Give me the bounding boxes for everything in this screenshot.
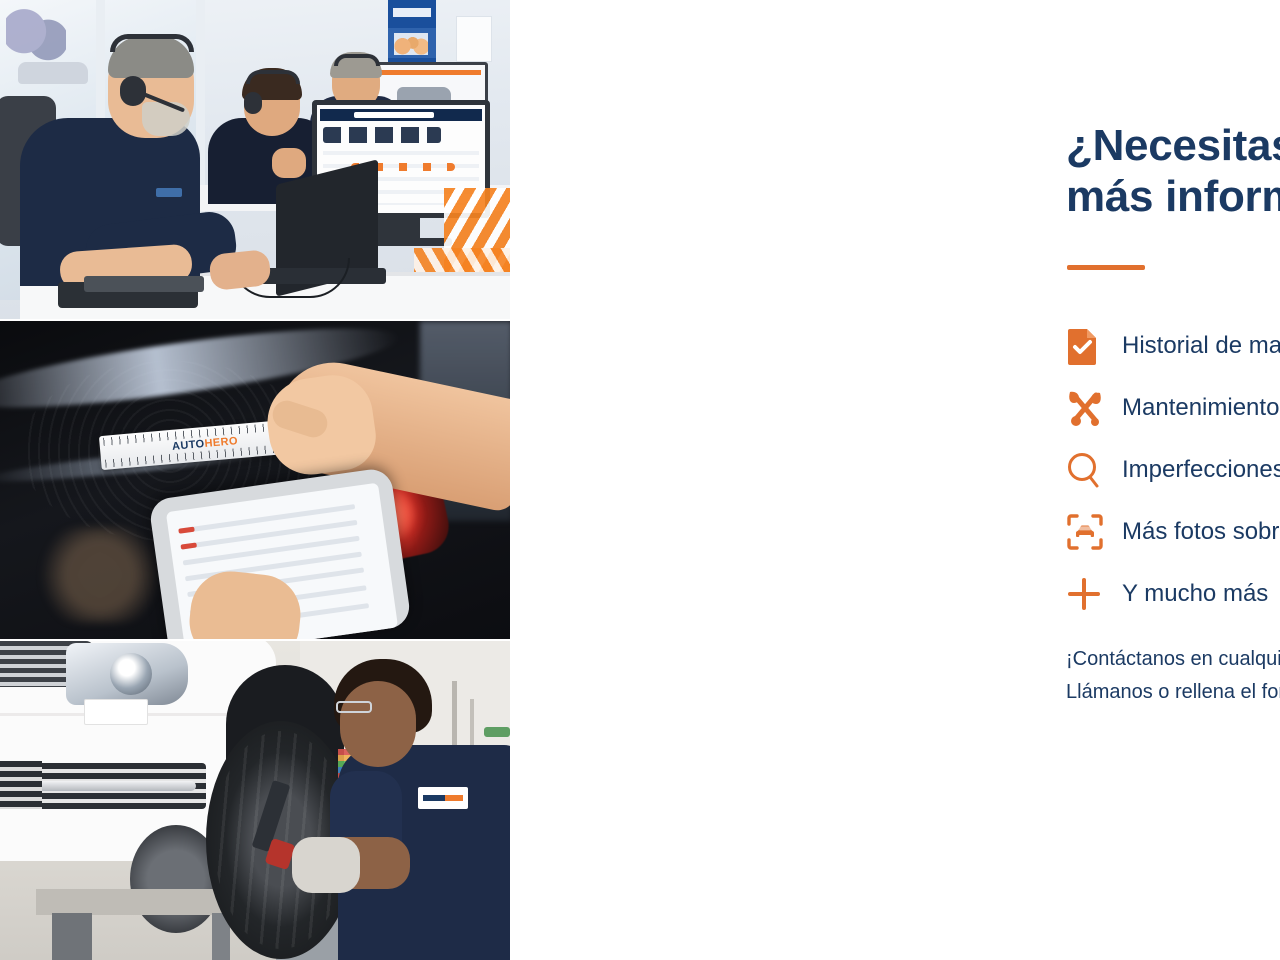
title-divider (1067, 265, 1145, 270)
license-plate (84, 699, 148, 725)
feature-label: Imperfecciones (1122, 456, 1280, 484)
car-photo-frame-icon (1066, 513, 1122, 551)
notebook (84, 276, 204, 292)
feature-label: Historial de mantenimientos (1122, 332, 1280, 360)
car-inspection-ruler-photo: AUTOHERO (0, 321, 510, 640)
feature-item-imperfections: Imperfecciones (1066, 439, 1280, 501)
document-check-icon (1066, 327, 1122, 365)
page-title-line1: ¿Necesitas (1066, 120, 1280, 171)
marketing-card: AUTOHERO (0, 0, 1280, 960)
info-panel: ¿Necesitas más información? Historial de… (510, 0, 1280, 960)
plus-icon (1066, 576, 1122, 612)
wall-fixture (484, 727, 510, 737)
magnifier-icon (1066, 451, 1122, 489)
contact-line2: Llámanos o rellena el formulario de cont… (1066, 676, 1280, 709)
chrome-trim (36, 781, 196, 791)
feature-item-much-more: Y mucho más (1066, 563, 1280, 625)
car-headlight (66, 643, 188, 705)
feature-label: Mantenimiento realizado (1122, 394, 1280, 422)
autohero-logo-auto: AUTO (172, 438, 206, 453)
feature-item-maintenance-history: Historial de mantenimientos (1066, 315, 1280, 377)
tools-wrench-screwdriver-icon (1066, 389, 1122, 427)
feature-item-maintenance-done: Mantenimiento realizado (1066, 377, 1280, 439)
feature-list: Historial de mantenimientos M (1066, 315, 1280, 625)
outdoor-car (18, 62, 88, 84)
poster-people-image (394, 33, 428, 55)
paint-reflection (30, 527, 170, 623)
wall-notice (456, 16, 492, 62)
contact-line1: ¡Contáctanos en cualquier momento para m… (1066, 643, 1280, 676)
lift-post (52, 913, 92, 960)
mechanic-wheel-photo (0, 641, 510, 960)
feature-label: Y mucho más (1122, 580, 1268, 608)
autohero-logo-hero: HERO (204, 435, 238, 450)
contact-text: ¡Contáctanos en cualquier momento para m… (1066, 643, 1280, 709)
outdoor-trees (6, 8, 66, 66)
page-title-line2: más información? (1066, 171, 1280, 222)
feature-label: Más fotos sobre el coche (1122, 518, 1280, 546)
feature-item-more-photos: Más fotos sobre el coche (1066, 501, 1280, 563)
photo-collage: AUTOHERO (0, 0, 510, 960)
call-center-agents-photo (0, 0, 510, 319)
fog-light-grille (0, 761, 42, 809)
page-title: ¿Necesitas más información? (1066, 120, 1280, 223)
monitor-stand (378, 218, 420, 240)
